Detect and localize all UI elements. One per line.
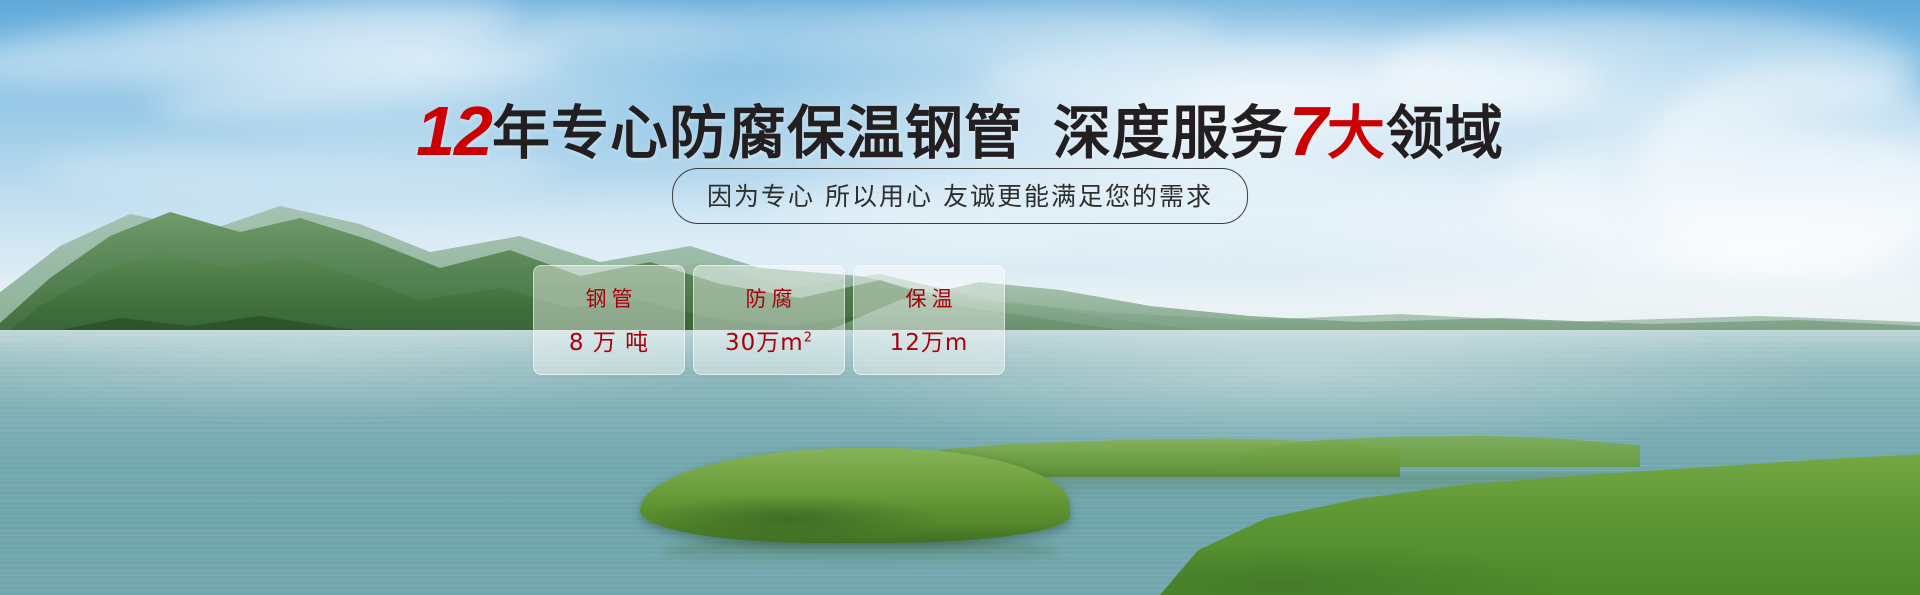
stat-card-value-text: 12万m <box>890 330 969 356</box>
stat-card-insulation[interactable]: 保温 12万m <box>853 265 1005 375</box>
subtitle-pill: 因为专心 所以用心 友诚更能满足您的需求 <box>672 168 1248 224</box>
stat-card-label: 保温 <box>901 283 958 313</box>
hero-banner: 12年专心防腐保温钢管深度服务7大领域 因为专心 所以用心 友诚更能满足您的需求… <box>0 0 1920 595</box>
headline-number-fields: 7 <box>1289 92 1327 170</box>
stat-card-group: 钢管 8 万 吨 防腐 30万m2 保温 12万m <box>533 265 1005 375</box>
stat-card-steel-pipe[interactable]: 钢管 8 万 吨 <box>533 265 685 375</box>
stat-card-value: 30万m2 <box>725 323 813 357</box>
headline-text-fields: 领域 <box>1386 99 1504 167</box>
stat-card-value-unit-exponent: 2 <box>804 330 813 345</box>
stat-card-value-text: 8 万 吨 <box>569 330 649 356</box>
headline-text-big: 大 <box>1327 99 1386 167</box>
stat-card-value: 12万m <box>890 323 969 357</box>
stat-card-label: 防腐 <box>741 283 798 313</box>
stat-card-value-text: 30万m <box>725 330 804 356</box>
headline-text-secondary: 深度服务 <box>1053 99 1289 167</box>
stat-card-label: 钢管 <box>581 283 638 313</box>
stat-card-anticorrosion[interactable]: 防腐 30万m2 <box>693 265 845 375</box>
headline-number-years: 12 <box>416 92 492 170</box>
headline: 12年专心防腐保温钢管深度服务7大领域 <box>0 86 1920 171</box>
headline-text-primary: 年专心防腐保温钢管 <box>492 99 1023 167</box>
stat-card-value: 8 万 吨 <box>569 323 649 357</box>
